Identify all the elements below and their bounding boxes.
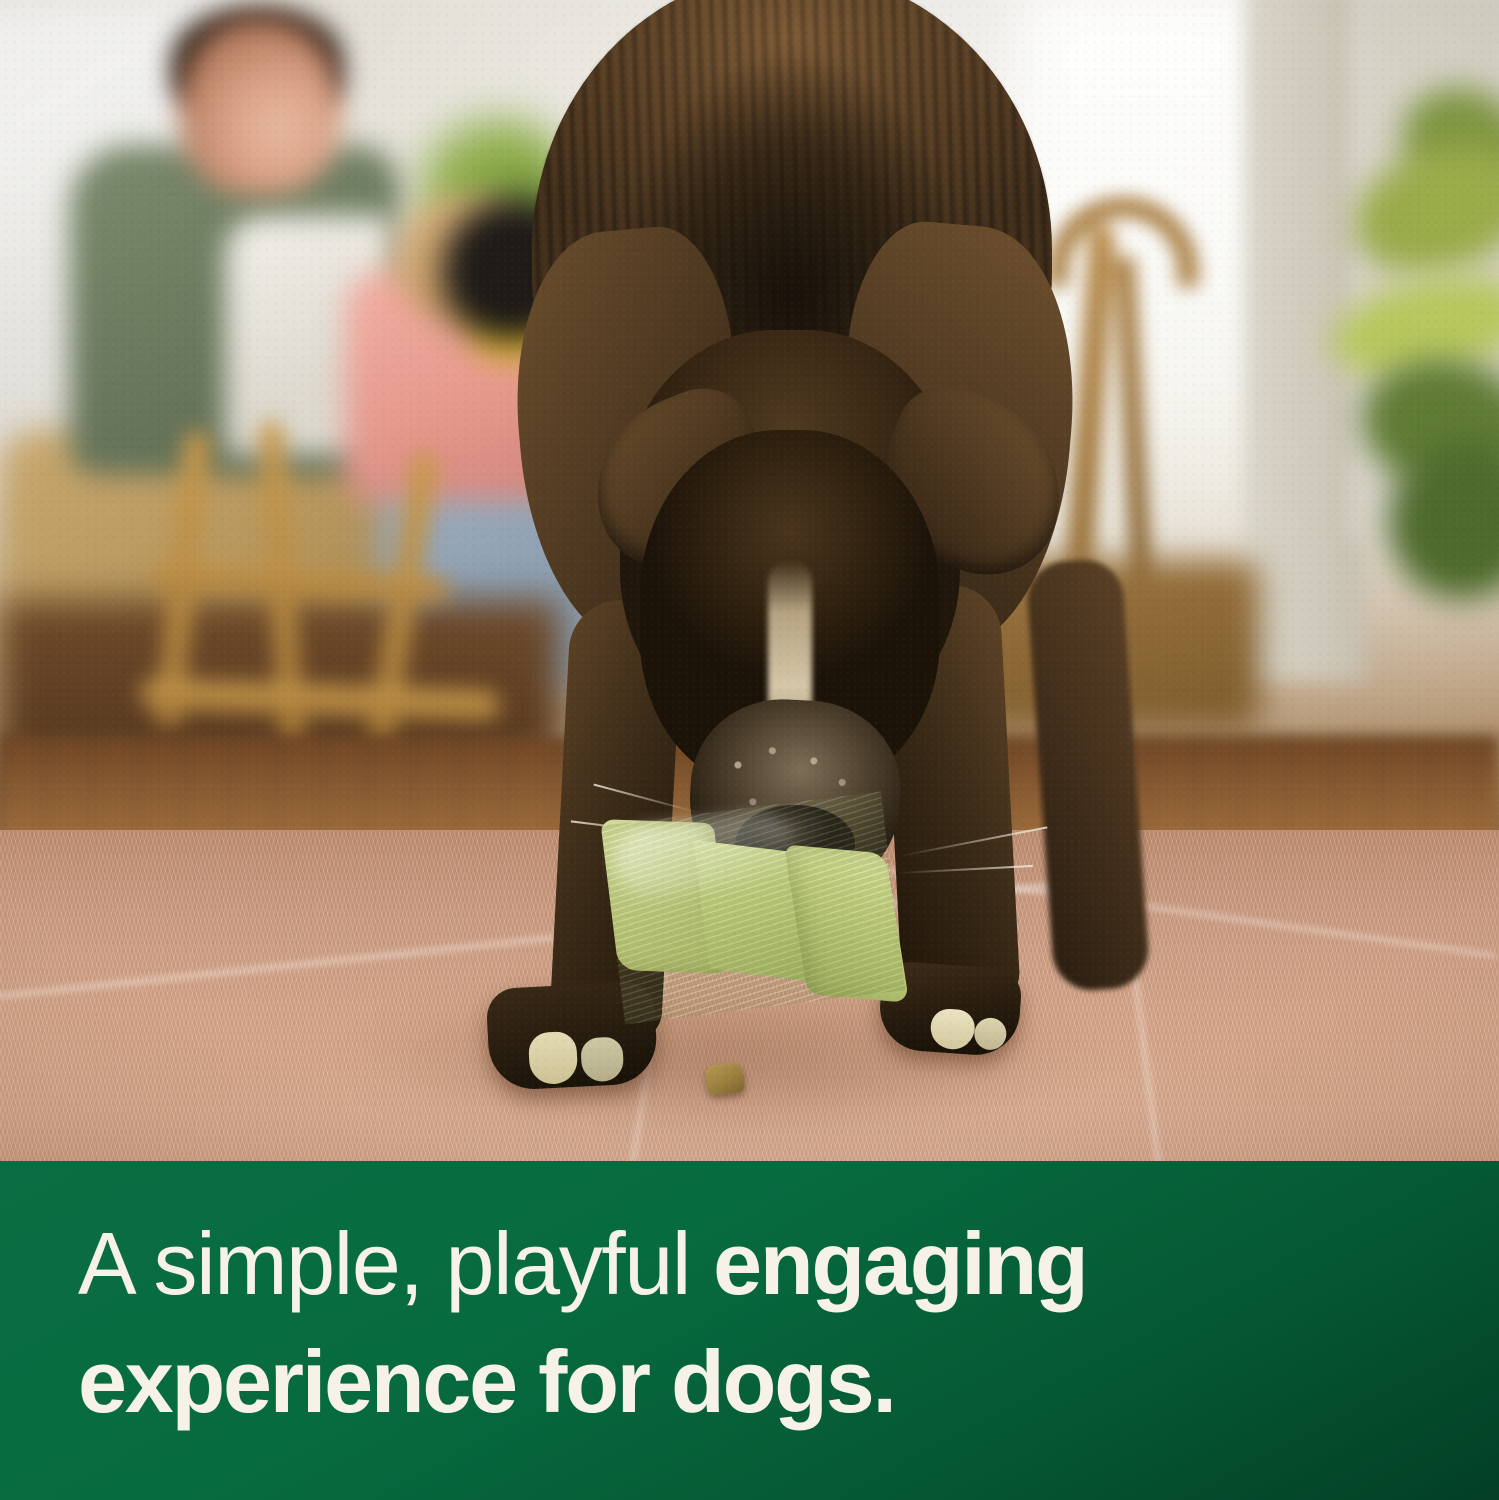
caption-line-1: A simple, playful engaging — [78, 1205, 1439, 1323]
lifestyle-banner: A simple, playful engaging experience fo… — [0, 0, 1499, 1500]
caption-band: A simple, playful engaging experience fo… — [0, 1161, 1499, 1500]
dog-toe — [528, 1031, 579, 1085]
kibble-treat — [705, 1062, 746, 1096]
caption-line-1-regular: A simple, playful — [78, 1214, 713, 1313]
dog-toe — [929, 1008, 976, 1051]
caption-line-1-bold: engaging — [713, 1214, 1087, 1313]
caption-text-block: A simple, playful engaging experience fo… — [78, 1205, 1439, 1441]
chew-toy — [601, 792, 905, 1025]
product-photo — [0, 0, 1499, 1161]
dog-toe — [973, 1017, 1007, 1051]
dog-toe — [580, 1036, 624, 1082]
caption-line-2: experience for dogs. — [78, 1323, 1439, 1441]
dog-hind-leg — [1025, 557, 1151, 993]
